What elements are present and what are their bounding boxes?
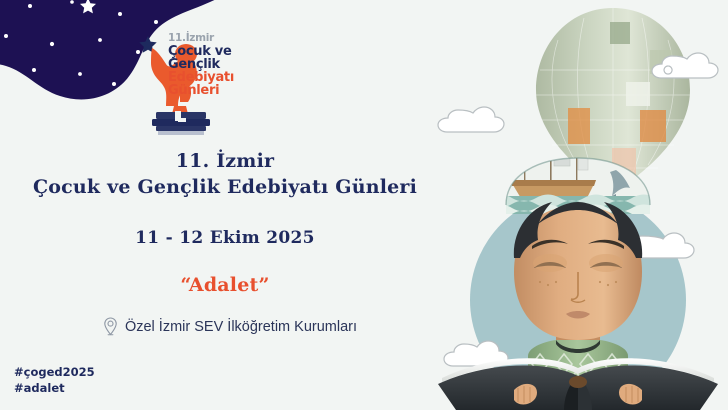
logo-line-1: 11.İzmir [168,33,248,44]
event-title-line2: Çocuk ve Gençlik Edebiyatı Günleri [0,174,450,200]
logo-line-4: Edebiyatı [168,71,248,84]
event-date: 11 - 12 Ekim 2025 [0,228,450,248]
logo-line-3: Gençlik [168,58,248,71]
ship-flag-fore [526,132,540,140]
reading-child-illustration [428,0,728,410]
event-title: 11. İzmir Çocuk ve Gençlik Edebiyatı Gün… [0,148,450,200]
logo-book-stack [152,111,210,135]
event-venue: Özel İzmir SEV İlköğretim Kurumları [0,317,460,336]
hashtag-block: #çoged2025 #adalet [14,364,95,396]
location-pin-icon [103,317,118,336]
event-title-line1: 11. İzmir [0,148,450,174]
logo-line-2: Çocuk ve [168,45,248,58]
logo-wordmark: 11.İzmir Çocuk ve Gençlik Edebiyatı Günl… [168,33,248,97]
logo-line-5: Günleri [168,84,248,97]
hashtag-2: #adalet [14,380,95,396]
event-theme: “Adalet” [0,274,450,296]
cloud-icon-mid-left [438,107,504,132]
poster-canvas: 11.İzmir Çocuk ve Gençlik Edebiyatı Günl… [0,0,728,410]
venue-label: Özel İzmir SEV İlköğretim Kurumları [125,319,357,335]
hashtag-1: #çoged2025 [14,364,95,380]
